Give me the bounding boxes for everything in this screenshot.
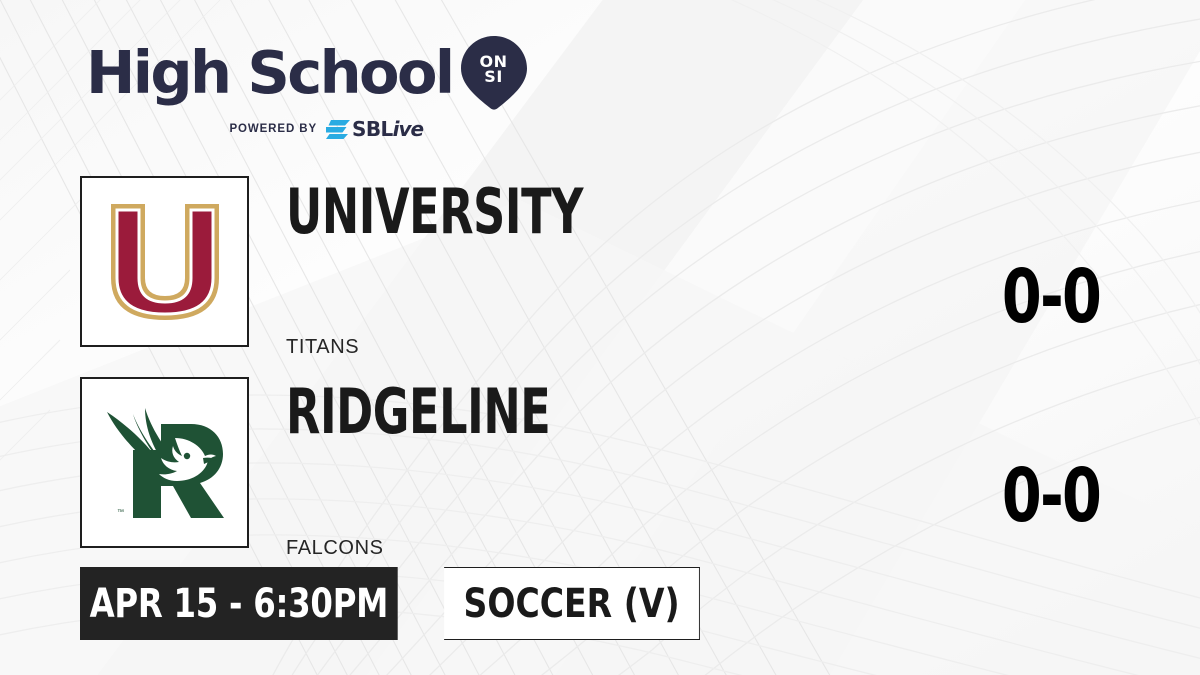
on-si-badge: ON SI: [461, 36, 527, 110]
on-si-badge-text: ON SI: [461, 54, 527, 84]
brand-title-row: High School ON SI: [86, 36, 527, 110]
sblive-logo: SBLive: [326, 117, 423, 141]
sblive-s-icon: [326, 120, 350, 139]
sblive-sbl: SBL: [352, 117, 393, 141]
game-info-bar: APR 15 - 6:30PM SOCCER (V): [80, 567, 711, 640]
team-record: 0-0: [939, 260, 1163, 334]
team-logo-box: ™: [80, 377, 249, 548]
brand-lockup: High School ON SI POWERED BY SBLive: [86, 36, 527, 141]
brand-title: High School: [86, 45, 453, 101]
game-datetime: APR 15 - 6:30PM: [80, 567, 398, 640]
sblive-ive: ive: [393, 117, 423, 141]
sblive-wordmark: SBLive: [352, 117, 423, 141]
team-name: UNIVERSITY: [286, 181, 583, 243]
team-name: RIDGELINE: [286, 381, 550, 443]
powered-by-label: POWERED BY: [229, 123, 317, 135]
game-sport: SOCCER (V): [444, 567, 700, 640]
powered-by-row: POWERED BY SBLive: [126, 117, 527, 141]
team-mascot: FALCONS: [286, 537, 384, 560]
team-record: 0-0: [939, 459, 1163, 533]
team-mascot: TITANS: [286, 336, 359, 359]
university-u-logo-icon: [105, 200, 225, 324]
svg-text:™: ™: [117, 509, 124, 516]
team-logo-box: [80, 176, 249, 347]
ridgeline-falcon-r-logo-icon: ™: [103, 404, 227, 522]
badge-line-si: SI: [461, 69, 527, 84]
